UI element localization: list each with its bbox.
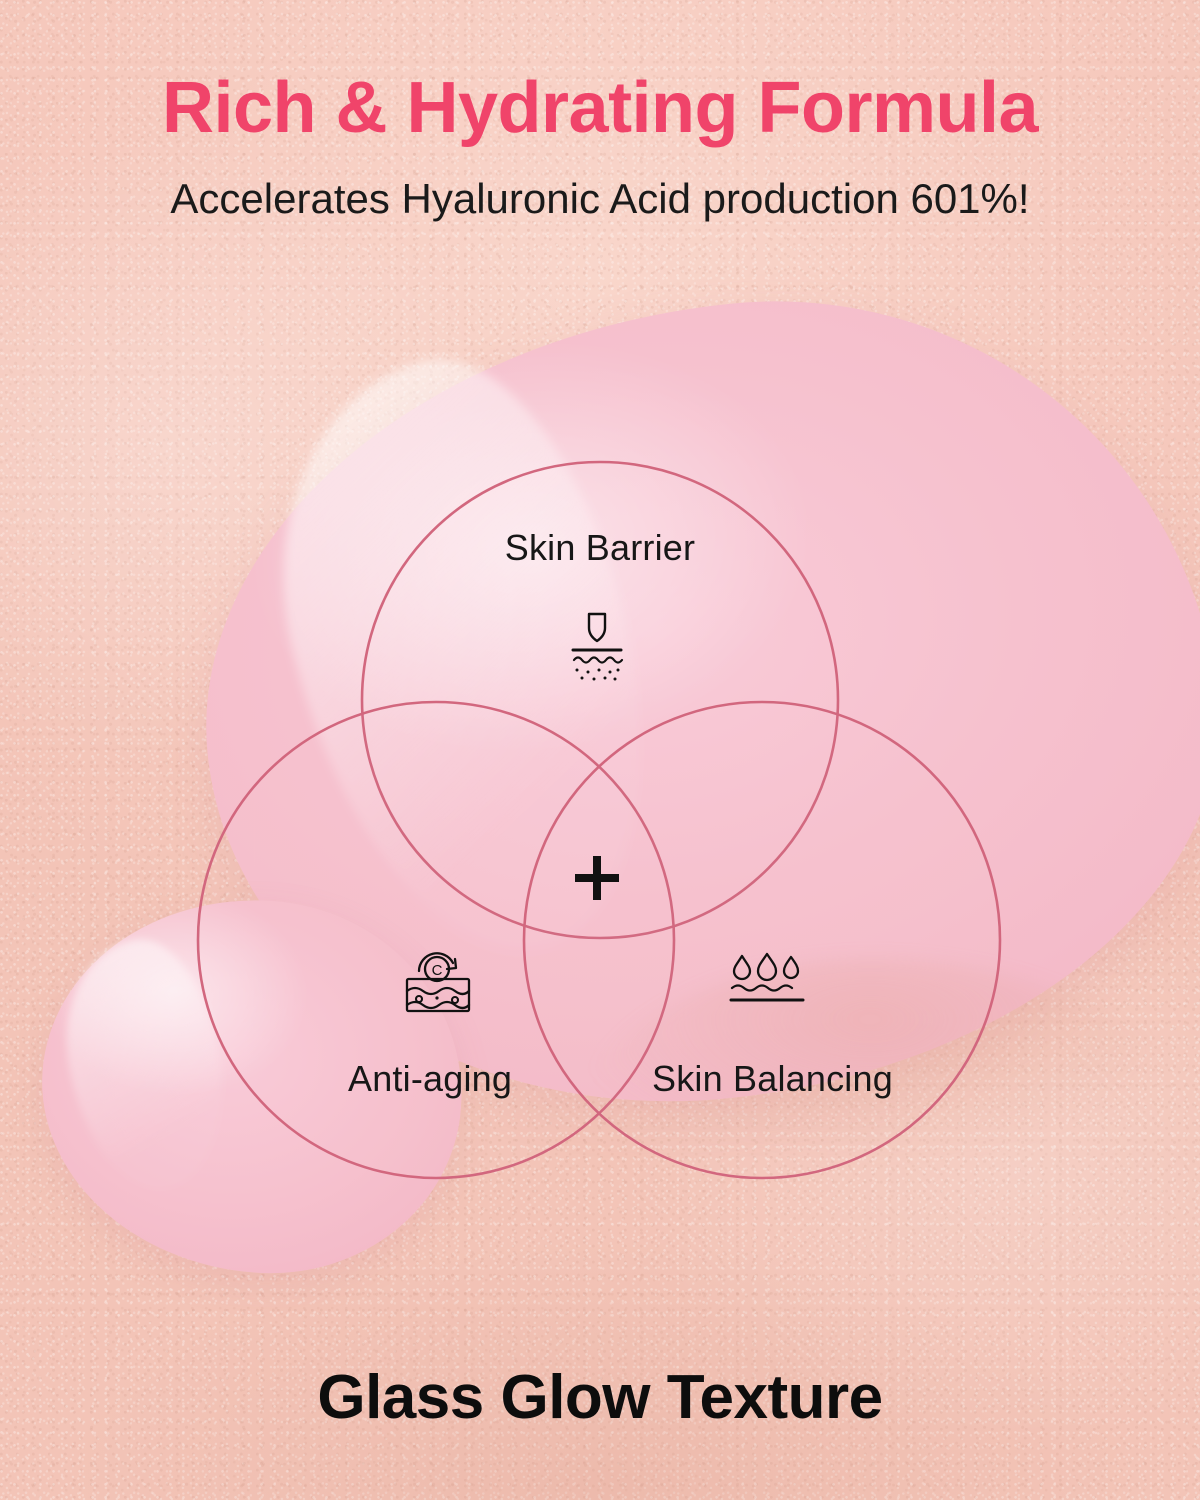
- gel-droplet-layer: [0, 0, 1200, 1500]
- svg-text:C: C: [432, 962, 443, 979]
- venn-label-anti-aging: Anti-aging: [348, 1058, 512, 1100]
- plus-icon: [570, 851, 624, 905]
- shield-over-skin-layers-icon: [547, 608, 647, 684]
- page-subtitle: Accelerates Hyaluronic Acid production 6…: [0, 176, 1200, 222]
- page-title: Rich & Hydrating Formula: [0, 72, 1200, 144]
- venn-label-skin-barrier: Skin Barrier: [0, 527, 1200, 569]
- venn-label-skin-balancing: Skin Balancing: [652, 1058, 893, 1100]
- collagen-renewal-skin-icon: C: [393, 947, 489, 1019]
- footer-caption: Glass Glow Texture: [0, 1362, 1200, 1433]
- product-infographic-poster: Rich & Hydrating Formula Accelerates Hya…: [0, 0, 1200, 1500]
- water-drops-over-waves-icon: [726, 950, 808, 1010]
